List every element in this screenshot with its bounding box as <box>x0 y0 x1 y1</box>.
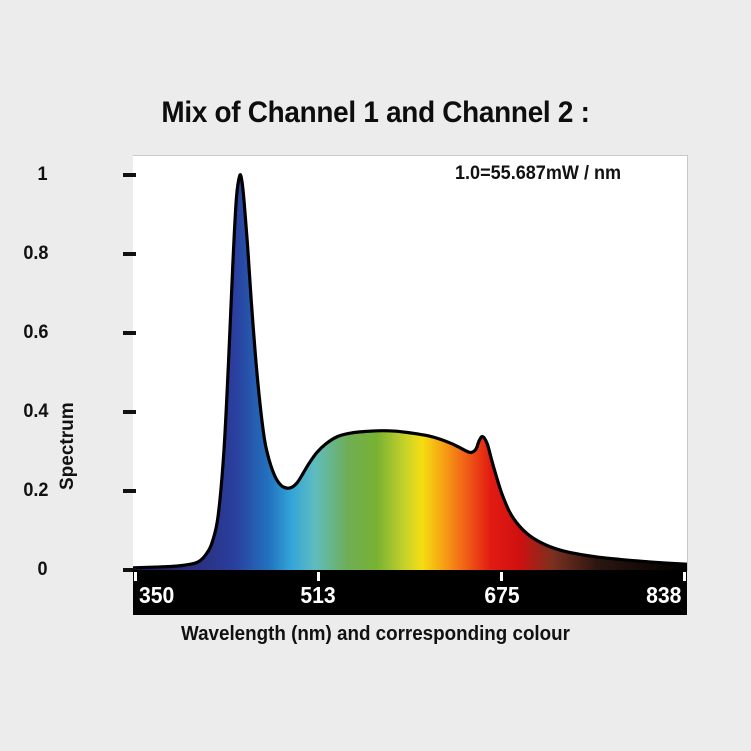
y-tick-mark-5 <box>123 173 136 177</box>
y-tick-label-3: 0.6 <box>23 322 48 344</box>
x-tick-mark-0 <box>134 572 137 581</box>
y-tick-label-zero: 0 <box>38 559 48 581</box>
y-axis-title: Spectrum <box>57 402 79 490</box>
y-tick-label-4: 0.8 <box>23 243 48 265</box>
x-tick-mark-2 <box>500 572 503 581</box>
x-tick-mark-3 <box>683 572 686 581</box>
y-tick-mark-4 <box>123 252 136 256</box>
x-tick-label-2: 675 <box>484 582 519 609</box>
x-axis-title: Wavelength (nm) and corresponding colour <box>23 623 729 646</box>
x-tick-label-0: 350 <box>139 582 174 609</box>
y-tick-label-5: 1 <box>38 164 48 186</box>
y-tick-label-1: 0.2 <box>23 480 48 502</box>
y-tick-label-2: 0.4 <box>23 401 48 423</box>
spectrum-chart-figure: Mix of Channel 1 and Channel 2 : <box>0 0 751 751</box>
y-tick-mark-3 <box>123 331 136 335</box>
x-axis-colour-bar: 350513675838 <box>133 570 687 615</box>
y-tick-mark-1 <box>123 489 136 493</box>
scale-annotation: 1.0=55.687mW / nm <box>455 163 621 185</box>
spectrum-fill-path <box>133 175 687 571</box>
plot-area <box>133 155 688 571</box>
y-tick-mark-2 <box>123 410 136 414</box>
spectrum-curve-svg <box>133 156 687 571</box>
x-tick-label-1: 513 <box>300 582 335 609</box>
page-title: Mix of Channel 1 and Channel 2 : <box>26 96 724 130</box>
x-tick-mark-1 <box>317 572 320 581</box>
x-tick-label-3: 838 <box>646 582 681 609</box>
